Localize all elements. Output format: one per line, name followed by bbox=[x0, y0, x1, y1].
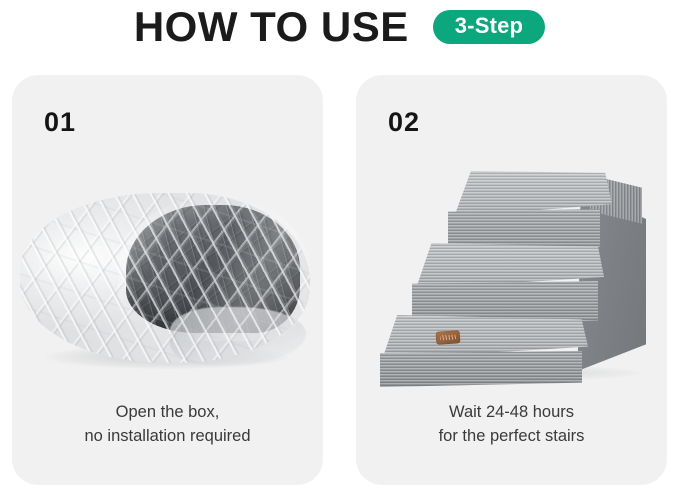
steps-container: 01 Open the box, no installation require… bbox=[12, 75, 667, 485]
header: HOW TO USE 3-Step bbox=[0, 0, 679, 60]
step-number-label: 02 bbox=[388, 109, 420, 136]
stairs-bottom-riser bbox=[380, 351, 582, 387]
compressed-package-image bbox=[20, 185, 316, 371]
step-caption: Wait 24-48 hours for the perfect stairs bbox=[356, 401, 667, 449]
brand-logo-mark bbox=[440, 334, 456, 340]
step-caption: Open the box, no installation required bbox=[12, 401, 323, 449]
how-to-use-panel: HOW TO USE 3-Step 01 Open the box, no in… bbox=[0, 0, 679, 493]
step-card-02: 02 Wait 24-48 hours f bbox=[356, 75, 667, 485]
pet-stairs-image bbox=[374, 159, 656, 371]
brand-leather-tag bbox=[436, 330, 461, 345]
plastic-crinkle-overlay bbox=[20, 193, 310, 363]
step-number-label: 01 bbox=[44, 109, 76, 136]
step-image-stage bbox=[12, 153, 323, 403]
step-image-stage bbox=[356, 153, 667, 403]
step-count-badge: 3-Step bbox=[433, 10, 545, 44]
step-card-01: 01 Open the box, no installation require… bbox=[12, 75, 323, 485]
page-title: HOW TO USE bbox=[134, 6, 409, 48]
